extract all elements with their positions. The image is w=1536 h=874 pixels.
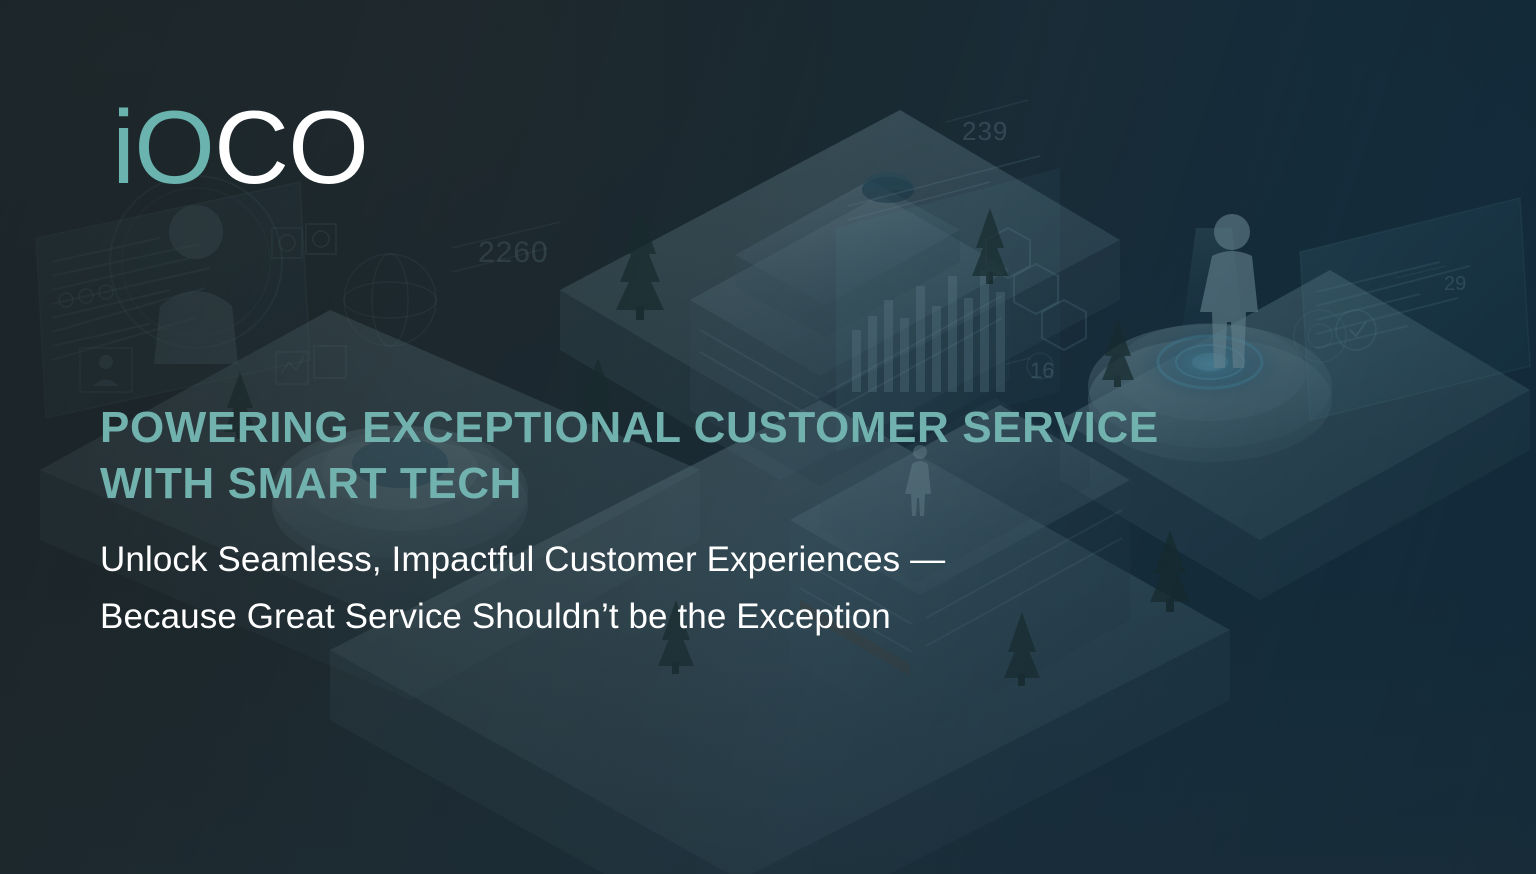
headline-line-2: WITH SMART TECH [100, 456, 1390, 512]
logo-letters-co: CO [214, 90, 368, 206]
logo-letter-o: O [134, 90, 214, 206]
title-slide: 2260 239 16 29 [0, 0, 1536, 874]
ioco-logo: iOCO [112, 96, 368, 200]
logo-letter-i: i [112, 90, 134, 206]
subheadline-line-1: Unlock Seamless, Impactful Customer Expe… [100, 532, 1260, 589]
subheadline-line-2: Because Great Service Shouldn’t be the E… [100, 589, 1260, 646]
slide-subheadline: Unlock Seamless, Impactful Customer Expe… [100, 532, 1260, 645]
slide-content: iOCO POWERING EXCEPTIONAL CUSTOMER SERVI… [0, 0, 1536, 874]
slide-headline: POWERING EXCEPTIONAL CUSTOMER SERVICE WI… [100, 400, 1390, 513]
headline-line-1: POWERING EXCEPTIONAL CUSTOMER SERVICE [100, 400, 1390, 456]
